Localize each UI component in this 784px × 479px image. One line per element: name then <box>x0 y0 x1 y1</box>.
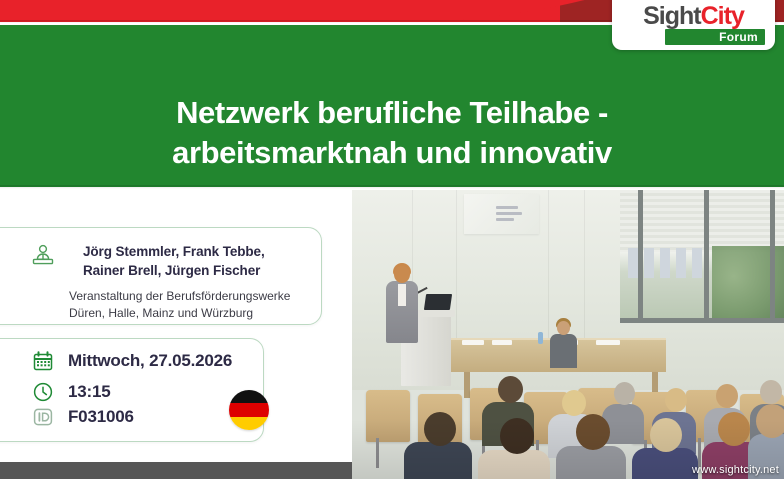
event-time-row: 13:15 <box>31 380 110 404</box>
red-swoosh-curve <box>0 0 660 22</box>
speaker-podium-icon <box>30 243 56 269</box>
logo-city-text: City <box>701 2 744 30</box>
logo-wordmark: SightCity <box>612 2 775 31</box>
organizer-line-1: Veranstaltung der Berufsförderungswerke <box>69 289 290 303</box>
id-badge-icon <box>31 405 55 429</box>
speaker-names-line-1: Jörg Stemmler, Frank Tebbe, <box>83 244 265 259</box>
event-time: 13:15 <box>68 382 110 402</box>
title-line-1: Netzwerk berufliche Teilhabe - <box>176 95 608 130</box>
speaker-names-line-2: Rainer Brell, Jürgen Fischer <box>83 263 260 278</box>
clock-icon <box>31 380 55 404</box>
event-date-row: Mittwoch, 27.05.2026 <box>31 349 232 373</box>
logo-forum-bar: Forum <box>665 29 765 45</box>
page-title: Netzwerk berufliche Teilhabe - arbeitsma… <box>0 93 784 174</box>
green-header-shadow <box>0 185 784 189</box>
presenter-head <box>394 266 410 283</box>
bottom-bar <box>0 462 352 479</box>
conference-photo <box>352 190 784 479</box>
projection-screen-icon <box>464 194 539 234</box>
calendar-icon <box>31 349 55 373</box>
slide-root: Netzwerk berufliche Teilhabe - arbeitsma… <box>0 0 784 479</box>
event-date: Mittwoch, 27.05.2026 <box>68 351 232 371</box>
watermark: www.sightcity.net <box>692 464 779 476</box>
logo-forum-text: Forum <box>665 29 765 45</box>
organizer-line-2: Düren, Halle, Mainz und Würzburg <box>69 306 253 320</box>
title-line-2: arbeitsmarktnah und innovativ <box>70 133 714 173</box>
event-id: F031006 <box>68 407 134 427</box>
event-id-row: F031006 <box>31 405 134 429</box>
sightcity-forum-logo[interactable]: SightCity Forum <box>612 0 775 50</box>
speaker-names: Jörg Stemmler, Frank Tebbe, Rainer Brell… <box>83 243 265 280</box>
logo-sight-text: Sight <box>643 2 701 30</box>
german-flag-icon <box>229 390 269 430</box>
speaker-organizer: Veranstaltung der Berufsförderungswerke … <box>69 288 290 323</box>
laptop-icon <box>424 294 452 310</box>
photo-window <box>620 190 784 322</box>
